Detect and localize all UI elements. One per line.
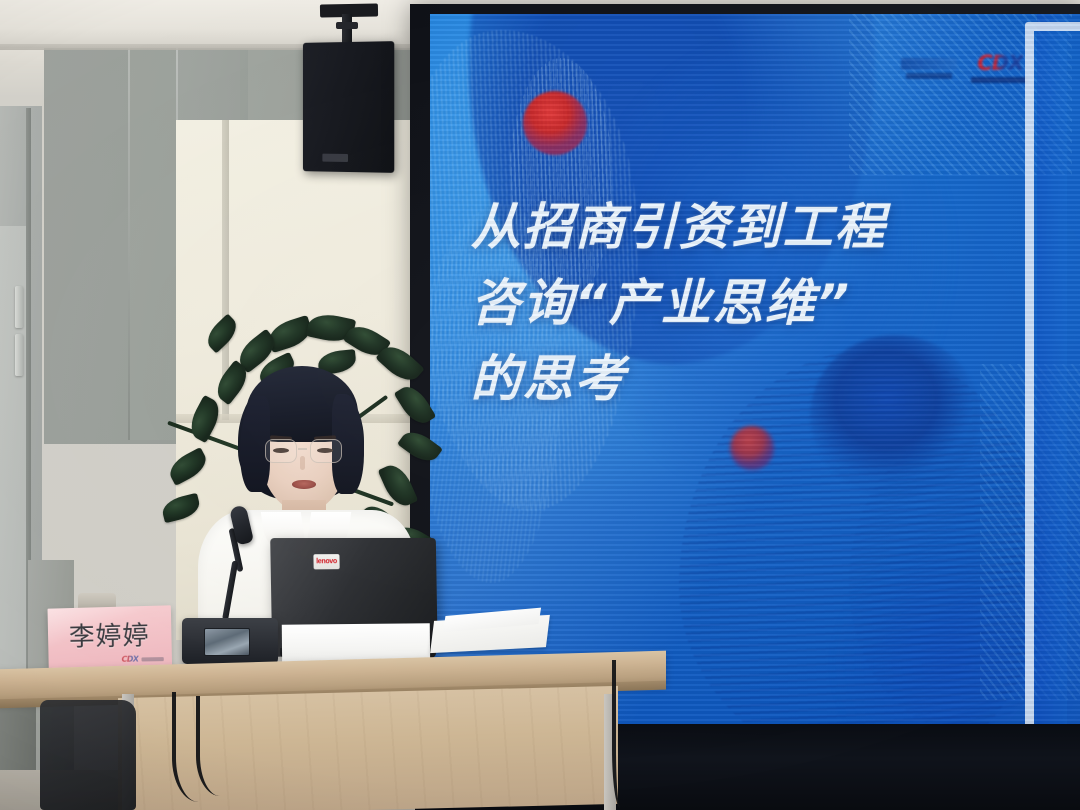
nameplate-logo: CDX (121, 654, 163, 664)
speaker-brand-badge (322, 154, 348, 162)
eyeglasses-lens-left (265, 439, 297, 463)
slide-title-line-1: 从招商引资到工程 (471, 189, 1021, 265)
cdx-logo-mark: CDX (977, 53, 1023, 74)
partner-logo-mark (901, 58, 957, 70)
cdx-logo-subtext (971, 77, 1029, 83)
slide-title-line-2: 咨询“产业思维” (471, 265, 1021, 341)
lenovo-logo-text: lenovo (316, 558, 337, 565)
partner-logo-subtext (906, 73, 952, 79)
presentation-photo-scene: CDX 从招商引资到工程 咨询“产业思维” 的思考 (0, 0, 1080, 810)
slide-logo-group: CDX (901, 53, 1029, 83)
nameplate-name-text: 李婷婷 (48, 614, 172, 654)
slide-red-circle-large (523, 91, 587, 155)
speaker-mount-joint (336, 22, 358, 29)
slide-title: 从招商引资到工程 咨询“产业思维” 的思考 (471, 189, 1021, 417)
door-hinge-lower (15, 334, 23, 376)
plant-leaf (202, 313, 242, 353)
eyeglasses-bridge (298, 448, 307, 450)
slide-title-line-3: 的思考 (471, 341, 1021, 417)
microphone-display-panel (204, 628, 250, 656)
cable-left-2 (196, 696, 236, 796)
lenovo-logo-sticker: lenovo (313, 554, 339, 569)
chair-silhouette[interactable] (40, 700, 136, 810)
presenter-mouth (292, 480, 316, 489)
door-hinge-upper (15, 286, 23, 328)
nameplate-logo-subtext (141, 657, 163, 661)
ceiling-speaker (303, 41, 394, 173)
eyeglasses-lens-right (310, 439, 342, 463)
slide-logo-cdx: CDX (971, 53, 1029, 83)
cable-right (612, 660, 626, 808)
presenter-nose (300, 456, 305, 470)
wall-seam-a (128, 10, 130, 440)
slide-logo-partner (901, 58, 957, 79)
slide-right-framed-panel (1025, 22, 1080, 734)
nameplate-cdx-mark: CDX (121, 654, 138, 663)
nameplate: 李婷婷 CDX (48, 605, 173, 670)
